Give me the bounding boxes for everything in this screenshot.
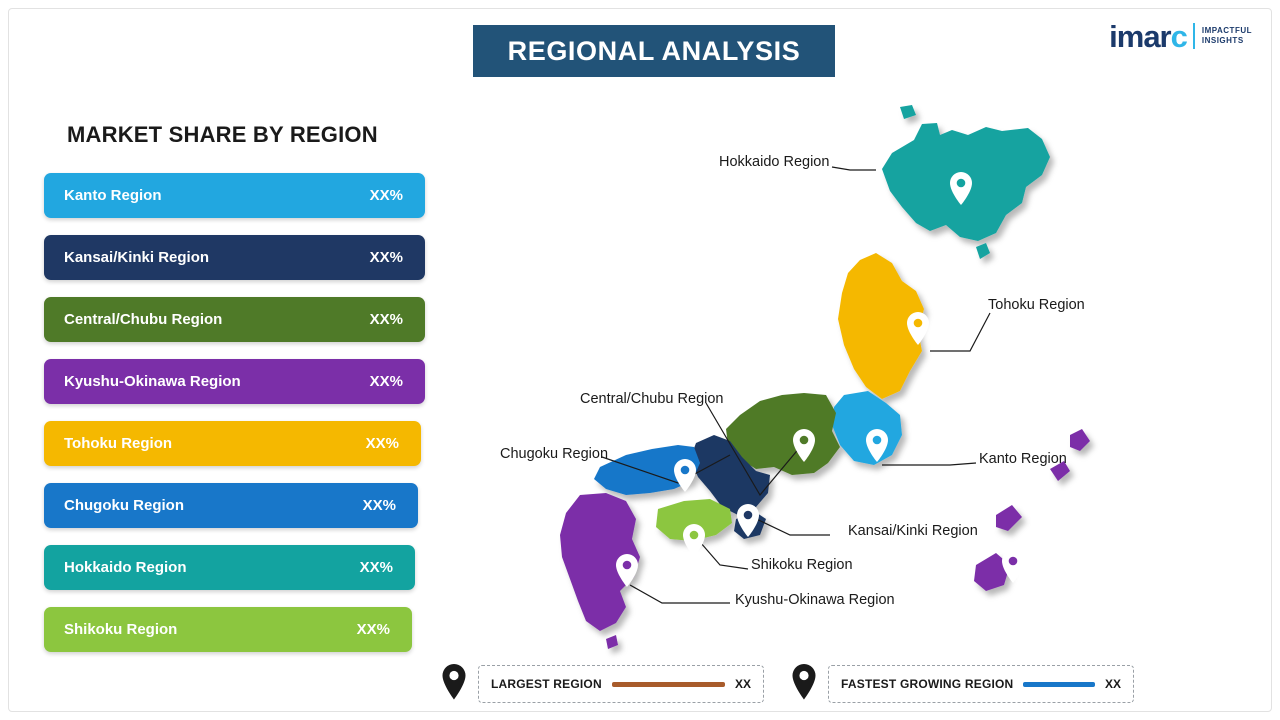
fastest-region-bar: [1023, 682, 1095, 687]
legend-row-tohoku[interactable]: Tohoku Region XX%: [44, 421, 421, 466]
legend-row-chugoku[interactable]: Chugoku Region XX%: [44, 483, 418, 528]
pin-shikoku: [683, 524, 705, 557]
largest-region-label: LARGEST REGION: [491, 677, 602, 691]
map-region-okinawa-1[interactable]: [1070, 429, 1090, 451]
legend-label: Kansai/Kinki Region: [64, 249, 209, 266]
legend-row-hokkaido[interactable]: Hokkaido Region XX%: [44, 545, 415, 590]
legend-value: XX%: [370, 311, 403, 328]
map-region-kyushu-islet-1: [606, 635, 618, 649]
page-title-bar: REGIONAL ANALYSIS: [473, 25, 835, 77]
logo-divider: [1193, 23, 1195, 49]
legend-value: XX%: [357, 621, 390, 638]
japan-region-map: Hokkaido Region Tohoku Region Central/Ch…: [430, 95, 1270, 665]
fastest-region-badge: FASTEST GROWING REGION XX: [828, 665, 1134, 703]
largest-region-pin-icon: [440, 663, 468, 705]
legend-value: XX%: [360, 559, 393, 576]
logo-wordmark: imarc: [1109, 21, 1187, 52]
map-label-shikoku: Shikoku Region: [751, 557, 853, 573]
legend-value: XX%: [363, 497, 396, 514]
largest-region-value: XX: [735, 677, 751, 691]
map-label-kansai-kinki: Kansai/Kinki Region: [848, 523, 978, 539]
legend-row-kyushu-okinawa[interactable]: Kyushu-Okinawa Region XX%: [44, 359, 425, 404]
legend-value: XX%: [370, 187, 403, 204]
legend-row-central-chubu[interactable]: Central/Chubu Region XX%: [44, 297, 425, 342]
map-label-chugoku: Chugoku Region: [500, 446, 608, 462]
legend-value: XX%: [370, 249, 403, 266]
legend-label: Shikoku Region: [64, 621, 177, 638]
legend-row-kanto[interactable]: Kanto Region XX%: [44, 173, 425, 218]
map-label-tohoku: Tohoku Region: [988, 297, 1085, 313]
legend-row-shikoku[interactable]: Shikoku Region XX%: [44, 607, 412, 652]
logo-tagline-line2: INSIGHTS: [1202, 36, 1252, 46]
legend-row-kansai-kinki[interactable]: Kansai/Kinki Region XX%: [44, 235, 425, 280]
map-region-hokkaido-tail: [976, 243, 990, 259]
legend-value: XX%: [370, 373, 403, 390]
map-label-kanto: Kanto Region: [979, 451, 1067, 467]
legend-label: Hokkaido Region: [64, 559, 187, 576]
largest-region-badge: LARGEST REGION XX: [478, 665, 764, 703]
page-title: REGIONAL ANALYSIS: [508, 36, 801, 67]
legend-value: XX%: [366, 435, 399, 452]
legend-label: Tohoku Region: [64, 435, 172, 452]
largest-region-bar: [612, 682, 725, 687]
map-region-okinawa-3: [996, 505, 1022, 531]
map-region-hokkaido-islet-1: [900, 105, 916, 119]
map-svg: [430, 95, 1270, 665]
legend-label: Chugoku Region: [64, 497, 184, 514]
market-share-legend: Kanto Region XX% Kansai/Kinki Region XX%…: [44, 173, 432, 669]
panel-title: MARKET SHARE BY REGION: [67, 122, 378, 148]
map-label-hokkaido: Hokkaido Region: [719, 154, 829, 170]
legend-label: Kanto Region: [64, 187, 162, 204]
map-region-kanto[interactable]: [832, 391, 902, 465]
map-label-central-chubu: Central/Chubu Region: [580, 391, 723, 407]
logo-tagline-line1: IMPACTFUL: [1202, 26, 1252, 36]
fastest-region-pin-icon: [790, 663, 818, 705]
imarc-logo: imarc IMPACTFUL INSIGHTS: [1109, 18, 1252, 54]
legend-label: Kyushu-Okinawa Region: [64, 373, 241, 390]
map-label-kyushu-okinawa: Kyushu-Okinawa Region: [735, 592, 895, 608]
fastest-region-label: FASTEST GROWING REGION: [841, 677, 1013, 691]
legend-label: Central/Chubu Region: [64, 311, 222, 328]
fastest-region-value: XX: [1105, 677, 1121, 691]
